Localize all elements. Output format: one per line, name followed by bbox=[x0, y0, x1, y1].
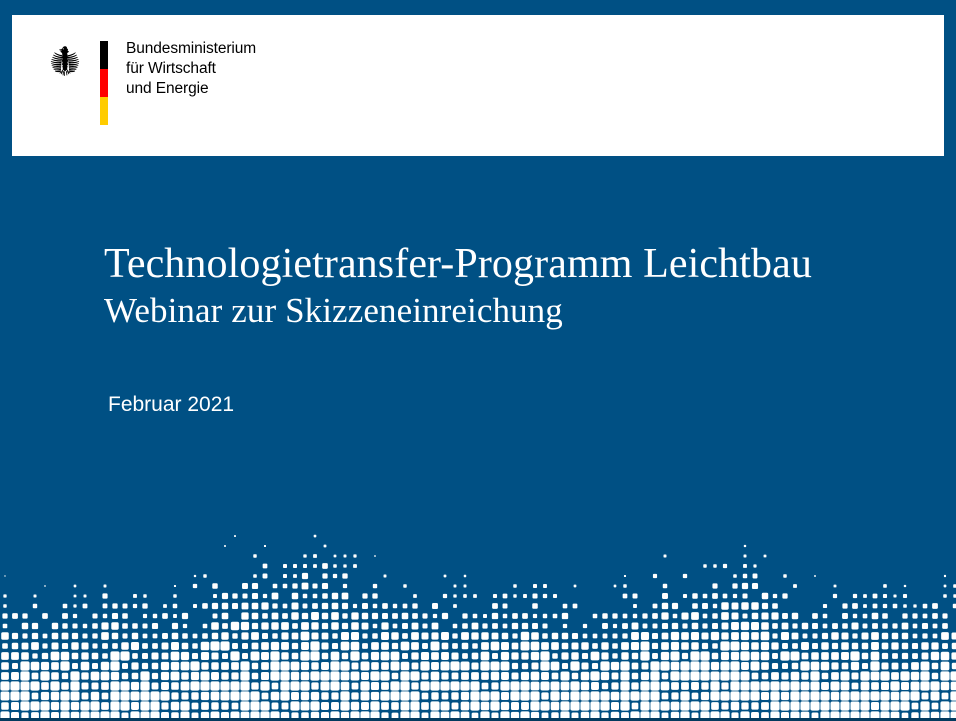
ministry-name: Bundesministerium für Wirtschaft und Ene… bbox=[126, 39, 256, 99]
title-block: Technologietransfer-Programm Leichtbau W… bbox=[104, 240, 924, 332]
flag-stripe-red bbox=[100, 69, 108, 97]
slide-title: Technologietransfer-Programm Leichtbau bbox=[104, 240, 924, 288]
halftone-dot-pattern bbox=[0, 491, 956, 721]
ministry-name-line-3: und Energie bbox=[126, 79, 256, 99]
slide-date: Februar 2021 bbox=[108, 392, 234, 418]
flag-stripe-gold bbox=[100, 97, 108, 125]
presentation-slide: Bundesministerium für Wirtschaft und Ene… bbox=[0, 0, 956, 721]
flag-stripe-black bbox=[100, 41, 108, 69]
ministry-name-line-1: Bundesministerium bbox=[126, 39, 256, 59]
german-flag-bar bbox=[100, 41, 108, 125]
ministry-logo: Bundesministerium für Wirtschaft und Ene… bbox=[45, 41, 256, 125]
logo-plate: Bundesministerium für Wirtschaft und Ene… bbox=[12, 15, 944, 156]
ministry-name-line-2: für Wirtschaft bbox=[126, 59, 256, 79]
slide-subtitle: Webinar zur Skizzeneinreichung bbox=[104, 290, 924, 332]
bundesadler-icon bbox=[45, 43, 85, 83]
